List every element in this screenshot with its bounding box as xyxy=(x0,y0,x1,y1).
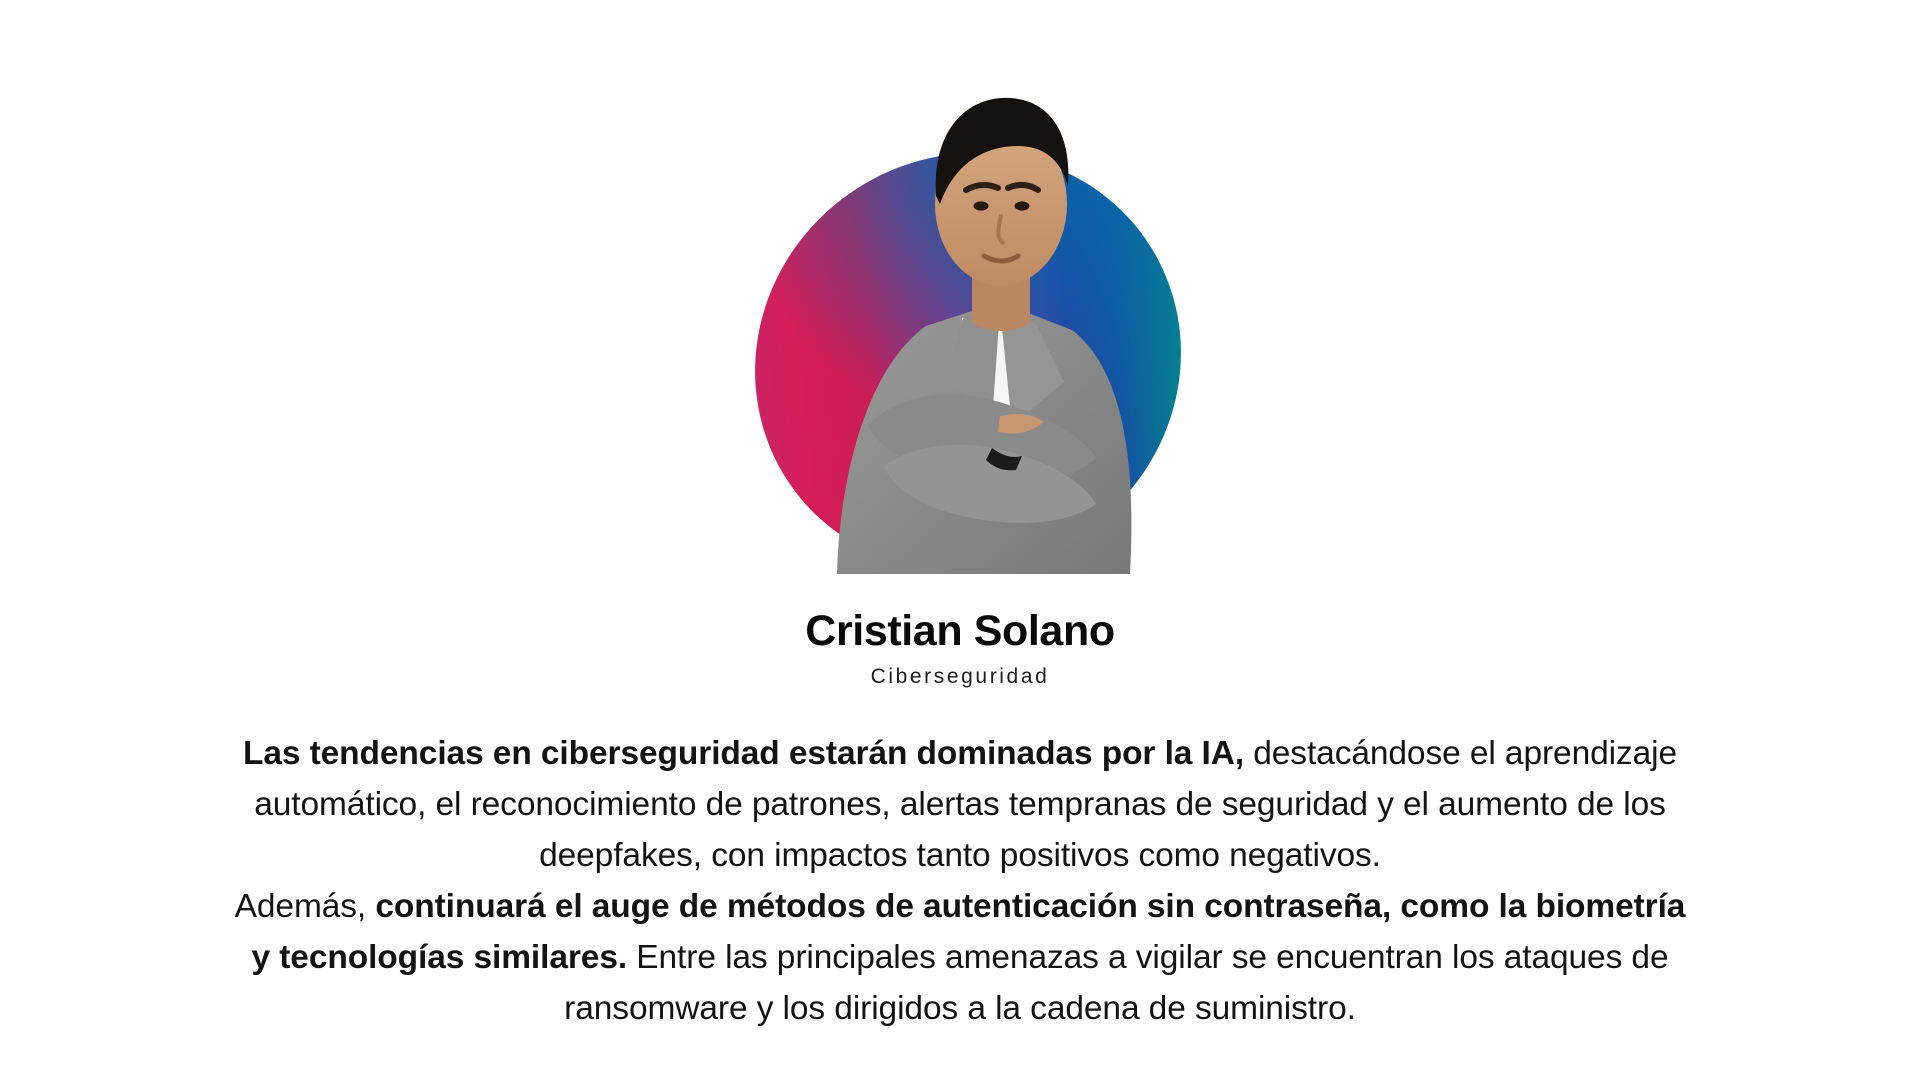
quote-paragraph-2: Además, continuará el auge de métodos de… xyxy=(230,881,1690,1034)
quote-paragraph-1: Las tendencias en ciberseguridad estarán… xyxy=(230,728,1690,881)
speaker-role: Ciberseguridad xyxy=(0,665,1920,689)
speaker-identity: Cristian Solano Ciberseguridad xyxy=(0,608,1920,689)
quote-p2-intro: Además, xyxy=(235,888,376,925)
quote-body: Las tendencias en ciberseguridad estarán… xyxy=(230,728,1690,1034)
portrait-block xyxy=(700,34,1220,584)
quote-p1-bold-lead: Las tendencias en ciberseguridad estarán… xyxy=(243,735,1244,772)
gradient-ellipse-backdrop xyxy=(674,70,1263,653)
slide-root: Cristian Solano Ciberseguridad Las tende… xyxy=(0,0,1920,1080)
speaker-name: Cristian Solano xyxy=(0,608,1920,654)
quote-p2-rest: Entre las principales amenazas a vigilar… xyxy=(564,939,1668,1027)
